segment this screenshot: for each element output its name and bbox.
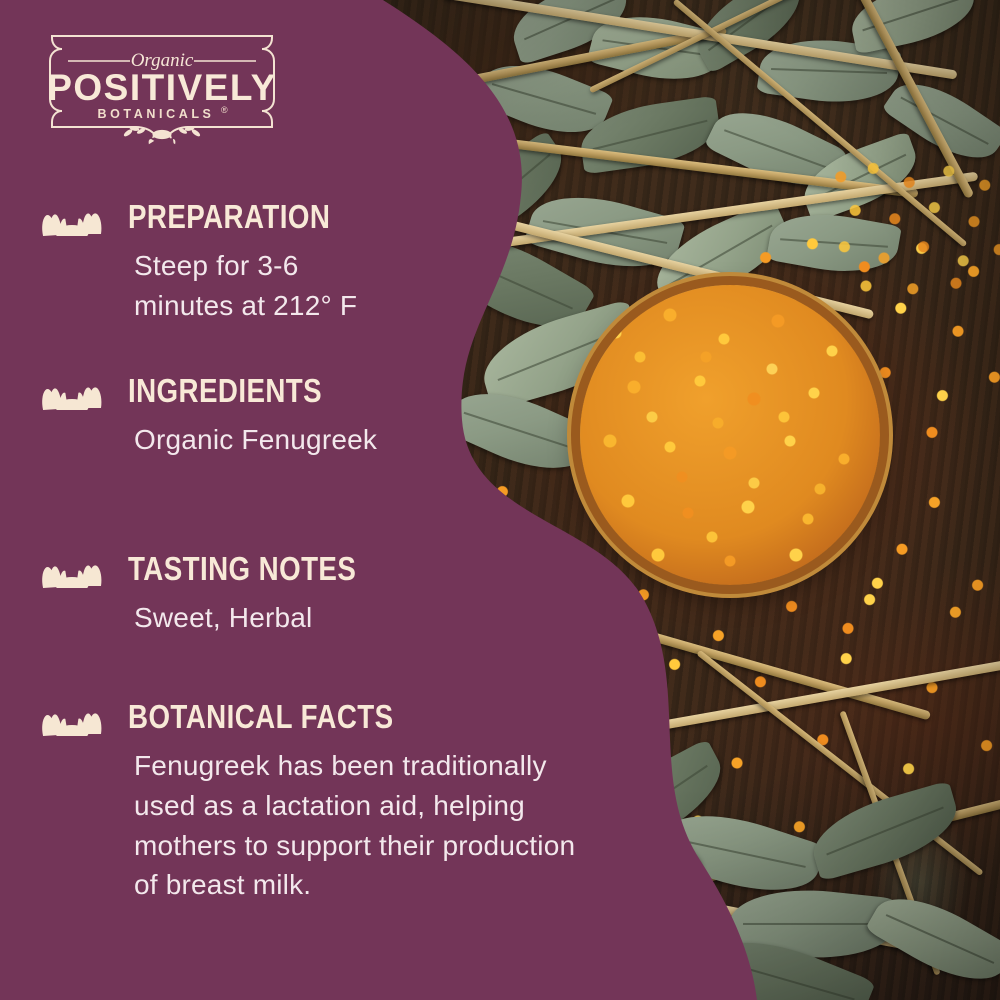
product-info-card: Organic POSITIVELY BOTANICALS ® — [0, 0, 1000, 1000]
logo-sprig-left — [121, 122, 146, 138]
section-botanical-facts: BOTANICAL FACTS Fenugreek has been tradi… — [38, 696, 575, 905]
body-line: mothers to support their production — [134, 826, 575, 866]
section-tasting-notes: TASTING NOTES Sweet, Herbal — [38, 548, 400, 638]
section-body: Sweet, Herbal — [134, 598, 400, 638]
logo-subwordmark: BOTANICALS — [97, 107, 214, 121]
body-line: Sweet, Herbal — [134, 598, 400, 638]
section-body: Fenugreek has been traditionally used as… — [134, 746, 575, 905]
shell-fan-icon — [38, 548, 106, 588]
body-line: minutes at 212° F — [134, 286, 369, 326]
logo-shell-icon — [121, 119, 202, 144]
section-preparation: PREPARATION Steep for 3-6 minutes at 212… — [38, 196, 369, 326]
logo-sprig-right — [178, 122, 203, 138]
section-heading: PREPARATION — [128, 200, 330, 233]
body-line: Organic Fenugreek — [134, 420, 377, 460]
brand-logo[interactable]: Organic POSITIVELY BOTANICALS ® — [38, 33, 286, 145]
shell-fan-icon — [38, 196, 106, 236]
body-line: of breast milk. — [134, 865, 575, 905]
body-line: used as a lactation aid, helping — [134, 786, 575, 826]
section-body: Steep for 3-6 minutes at 212° F — [134, 246, 369, 326]
card-content: Organic POSITIVELY BOTANICALS ® — [0, 0, 1000, 1000]
logo-wordmark: POSITIVELY — [47, 67, 277, 108]
shell-fan-icon — [38, 370, 106, 410]
section-heading: INGREDIENTS — [128, 374, 322, 407]
section-heading: BOTANICAL FACTS — [128, 700, 394, 733]
section-ingredients: INGREDIENTS Organic Fenugreek — [38, 370, 377, 460]
shell-fan-icon — [38, 696, 106, 736]
body-line: Steep for 3-6 — [134, 246, 369, 286]
body-line: Fenugreek has been traditionally — [134, 746, 575, 786]
section-body: Organic Fenugreek — [134, 420, 377, 460]
logo-trademark: ® — [221, 105, 228, 115]
section-heading: TASTING NOTES — [128, 552, 356, 585]
